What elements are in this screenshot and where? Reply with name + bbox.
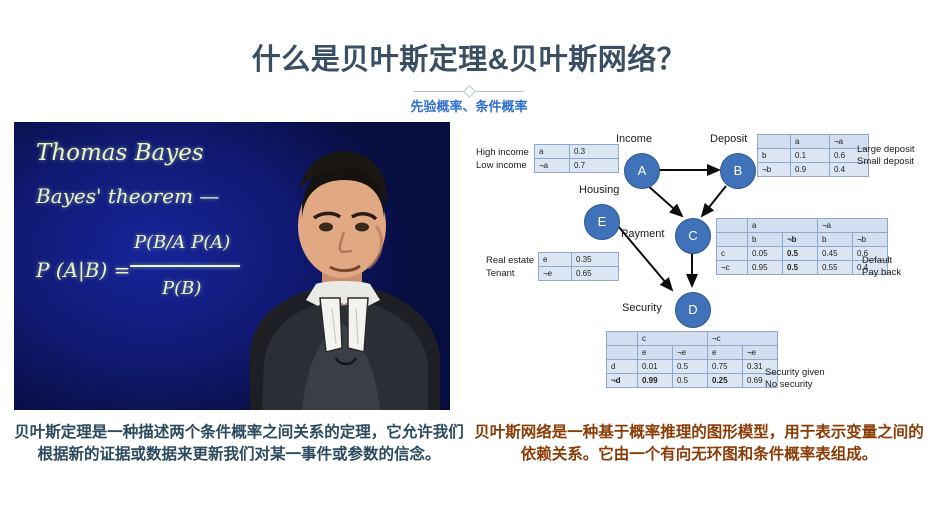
chalk-theorem-text: Bayes' theorem — [36,184,219,208]
slide-canvas: 什么是贝叶斯定理&贝叶斯网络？ 先验概率、条件概率 [0,0,938,526]
cell: ¬b [783,233,818,247]
security-label-none: No security [765,379,813,391]
node-c[interactable]: C [675,218,711,254]
bayesian-network-diagram: A B C D E Income Deposit Payment Securit… [466,122,932,410]
cpt-deposit: a ¬a b 0.1 0.6 ¬b 0.9 0.4 [757,134,869,177]
node-label-security: Security [622,302,662,314]
bayes-portrait-figure [240,122,450,410]
caption-bayes-theorem: 贝叶斯定理是一种描述两个条件概率之间关系的定理，它允许我们根据新的证据或数据来更… [10,422,468,466]
cell: ¬b [758,163,791,177]
chalk-formula-numerator: P(B/A P(A) [134,232,230,253]
table-row: b 0.1 0.6 [758,149,869,163]
node-label-housing: Housing [579,184,619,196]
deposit-label-large: Large deposit [857,144,915,156]
cell: 0.5 [673,374,708,388]
table-row: c ¬c [607,332,778,346]
table-row: ¬e 0.65 [539,267,619,281]
cell [607,346,638,360]
cell: ¬a [818,219,888,233]
cell: 0.9 [791,163,830,177]
title-divider [414,86,524,96]
cell: a [535,145,570,159]
cell: e [708,346,743,360]
node-a[interactable]: A [624,153,660,189]
cell: ¬c [708,332,778,346]
chalk-fraction-bar [130,265,240,267]
cell: 0.65 [572,267,619,281]
cell: 0.3 [570,145,619,159]
node-e[interactable]: E [584,204,620,240]
cell: 0.01 [638,360,673,374]
cell: 0.45 [818,247,853,261]
cell: 0.5 [783,261,818,275]
table-row: e 0.35 [539,253,619,267]
cell: a [791,135,830,149]
housing-label-realestate: Real estate [486,255,534,267]
income-label-low: Low income [476,160,527,172]
cell [758,135,791,149]
cell: 0.7 [570,159,619,173]
cell: 0.5 [673,360,708,374]
cell: ¬c [717,261,748,275]
node-d[interactable]: D [675,292,711,328]
cell: 0.55 [818,261,853,275]
thomas-bayes-image: Thomas Bayes Bayes' theorem — P (A|B) = … [14,122,450,410]
cell: ¬e [673,346,708,360]
cpt-security: c ¬c e ¬e e ¬e d 0.01 0.5 0.75 0.31 ¬d 0… [606,331,778,388]
cell: 0.1 [791,149,830,163]
cell: ¬a [535,159,570,173]
page-subtitle: 先验概率、条件概率 [0,96,938,115]
table-row: e ¬e e ¬e [607,346,778,360]
cell: b [758,149,791,163]
cell: 0.5 [783,247,818,261]
security-label-given: Security given [765,367,825,379]
table-row: d 0.01 0.5 0.75 0.31 [607,360,778,374]
cell [717,219,748,233]
cell: ¬d [607,374,638,388]
cpt-housing: e 0.35 ¬e 0.65 [538,252,619,281]
cell: b [818,233,853,247]
table-row: a ¬a [758,135,869,149]
cell: e [539,253,572,267]
page-title: 什么是贝叶斯定理&贝叶斯网络？ [0,36,938,78]
table-row: a ¬a [717,219,888,233]
cell: d [607,360,638,374]
cell: 0.75 [708,360,743,374]
cell [607,332,638,346]
housing-label-tenant: Tenant [486,268,515,280]
cell: 0.05 [748,247,783,261]
cell: ¬e [539,267,572,281]
cell: c [638,332,708,346]
cell: e [638,346,673,360]
cell: c [717,247,748,261]
table-row: a 0.3 [535,145,619,159]
cell: ¬e [743,346,778,360]
node-b[interactable]: B [720,153,756,189]
cell: 0.95 [748,261,783,275]
cpt-income: a 0.3 ¬a 0.7 [534,144,619,173]
node-label-payment: Payment [621,228,664,240]
cell: 0.25 [708,374,743,388]
table-row: ¬a 0.7 [535,159,619,173]
node-label-deposit: Deposit [710,133,747,145]
chalk-formula-denominator: P(B) [162,278,201,299]
caption-bayes-network: 贝叶斯网络是一种基于概率推理的图形模型，用于表示变量之间的依赖关系。它由一个有向… [470,422,928,466]
node-label-income: Income [616,133,652,145]
cell: a [748,219,818,233]
payment-label-default: Default [862,255,892,267]
chalk-formula-left: P (A|B) = [36,258,130,282]
table-row: ¬b 0.9 0.4 [758,163,869,177]
payment-label-payback: Pay back [862,267,901,279]
deposit-label-small: Small deposit [857,156,914,168]
cell: b [748,233,783,247]
cell: ¬b [853,233,888,247]
cell: 0.99 [638,374,673,388]
cell [717,233,748,247]
table-row: ¬d 0.99 0.5 0.25 0.69 [607,374,778,388]
chalk-name-text: Thomas Bayes [36,140,204,166]
income-label-high: High income [476,147,529,159]
cell: 0.35 [572,253,619,267]
table-row: b ¬b b ¬b [717,233,888,247]
